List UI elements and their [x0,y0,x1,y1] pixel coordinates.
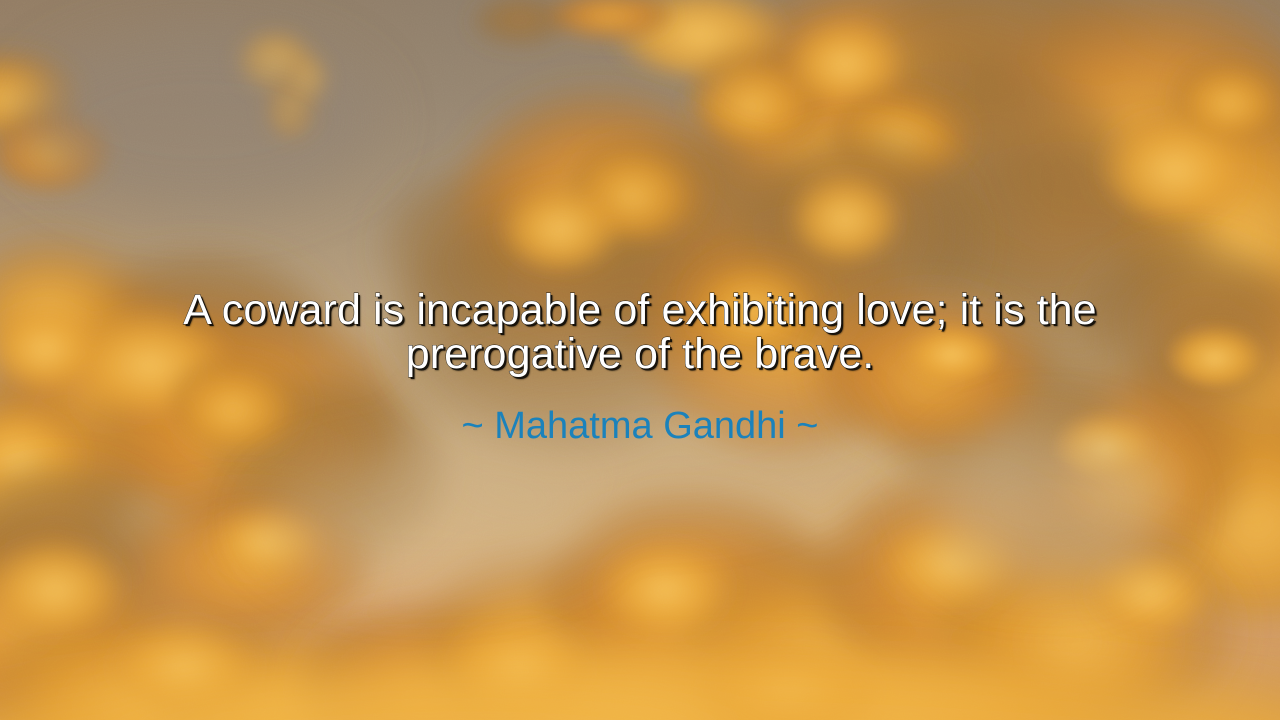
quote-text-block: A coward is incapable of exhibiting love… [0,288,1280,376]
quote-line-1: A coward is incapable of exhibiting love… [0,288,1280,332]
quote-card-stage: A coward is incapable of exhibiting love… [0,0,1280,720]
quote-line-2: prerogative of the brave. [0,332,1280,376]
quote-attribution: ~ Mahatma Gandhi ~ [0,405,1280,447]
